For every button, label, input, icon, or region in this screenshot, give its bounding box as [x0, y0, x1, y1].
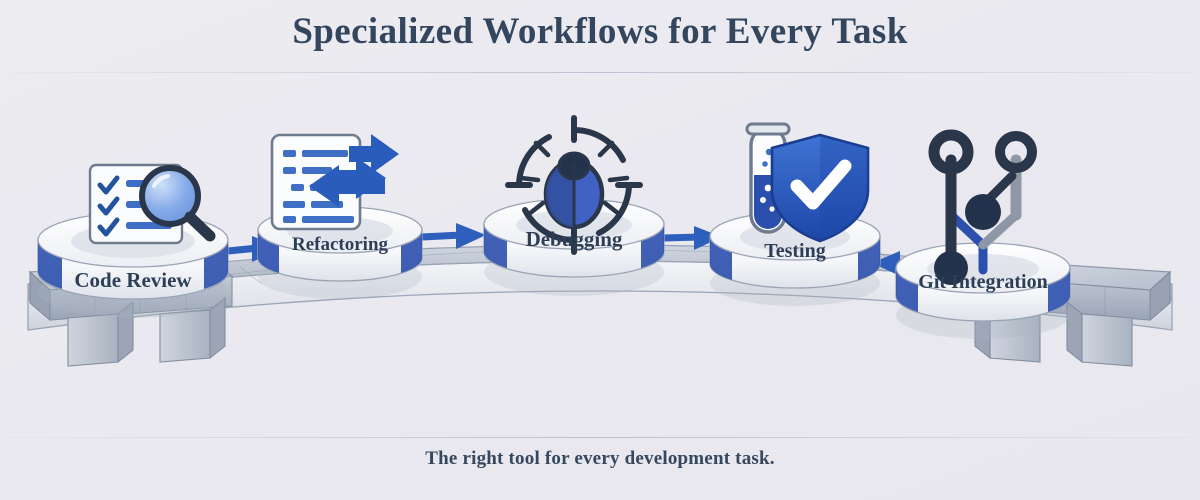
left-leg-front: [68, 314, 118, 366]
node-code-review[interactable]: [38, 165, 228, 318]
right-leg-front: [1082, 314, 1132, 366]
workflow-illustration: [0, 0, 1200, 500]
arrow-refactoring-debugging: [422, 223, 486, 249]
left-leg-back: [160, 310, 210, 362]
node-git-integration[interactable]: [896, 135, 1070, 339]
node-testing[interactable]: [710, 124, 880, 306]
footer-caption: The right tool for every development tas…: [0, 448, 1200, 470]
node-refactoring[interactable]: [258, 134, 422, 299]
node-debugging[interactable]: [484, 118, 664, 296]
diagram-canvas: Specialized Workflows for Every Task: [0, 0, 1200, 500]
